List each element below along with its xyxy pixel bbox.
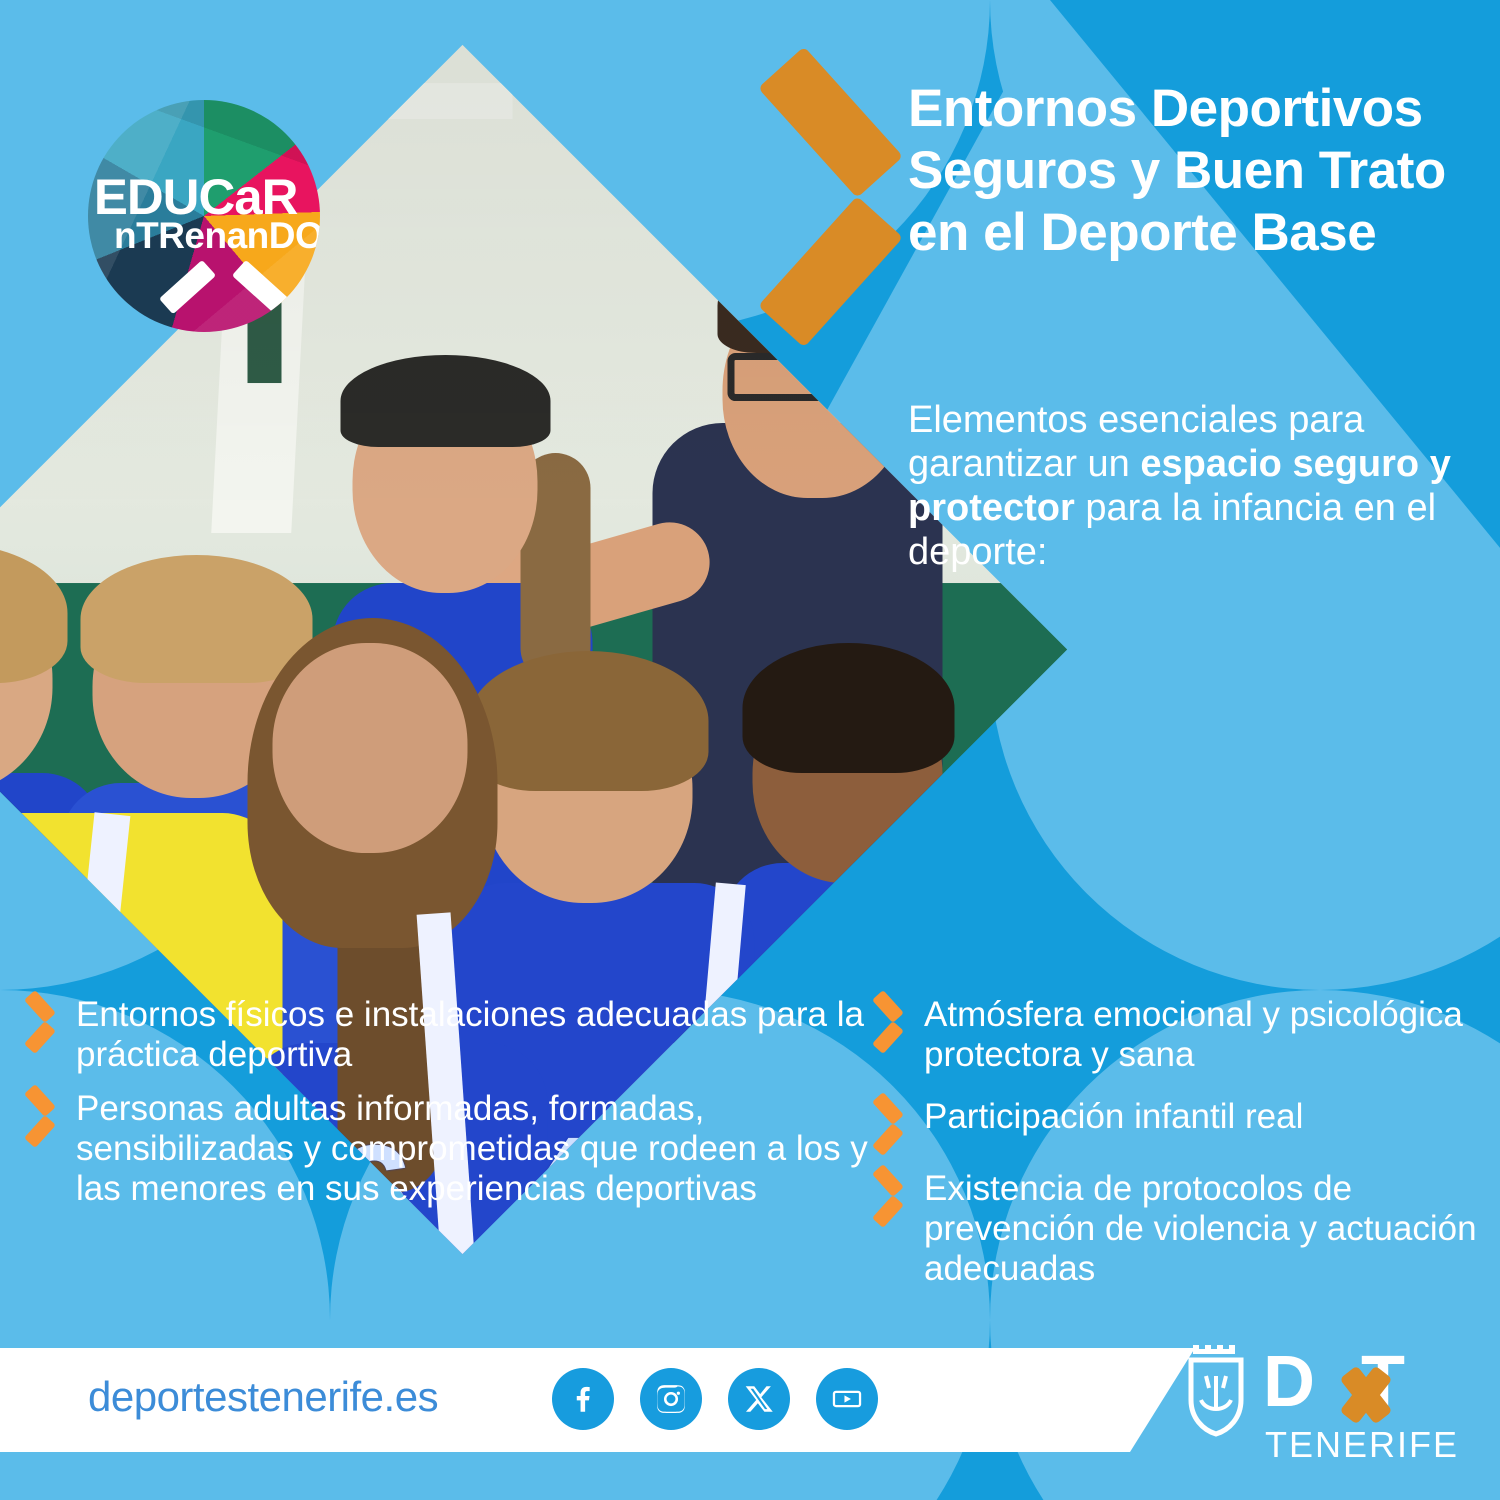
- list-item: Participación infantil real: [868, 1097, 1488, 1147]
- bullet-text: Participación infantil real: [924, 1097, 1303, 1137]
- bullet-text: Personas adultas informadas, formadas, s…: [76, 1089, 870, 1209]
- x-twitter-icon[interactable]: [728, 1368, 790, 1430]
- chevron-right-icon: [758, 88, 898, 306]
- page-title: Entornos Deportivos Seguros y Buen Trato…: [908, 78, 1488, 264]
- logo-word-educar: EDUCaR: [94, 174, 314, 220]
- page-subtitle: Elementos esenciales para garantizar un …: [908, 398, 1488, 574]
- chevron-up-icon: [166, 268, 242, 332]
- list-item: Entornos físicos e instalaciones adecuad…: [20, 995, 870, 1075]
- instagram-icon[interactable]: [640, 1368, 702, 1430]
- bullet-text: Atmósfera emocional y psicológica protec…: [924, 995, 1488, 1075]
- youtube-icon[interactable]: [816, 1368, 878, 1430]
- list-item: Existencia de protocolos de prevención d…: [868, 1169, 1488, 1289]
- facebook-icon[interactable]: [552, 1368, 614, 1430]
- social-links: [552, 1368, 878, 1430]
- list-item: Atmósfera emocional y psicológica protec…: [868, 995, 1488, 1075]
- chevron-right-icon: [868, 1101, 910, 1147]
- bullet-list-right: Atmósfera emocional y psicológica protec…: [868, 995, 1488, 1311]
- bullet-text: Existencia de protocolos de prevención d…: [924, 1169, 1488, 1289]
- tenerife-coat-of-arms-icon: [1185, 1342, 1247, 1438]
- bullet-text: Entornos físicos e instalaciones adecuad…: [76, 995, 870, 1075]
- chevron-right-icon: [868, 1173, 910, 1219]
- dxt-subtitle: TENERIFE: [1265, 1424, 1459, 1466]
- dxt-tenerife-logo: DXT TENERIFE: [1185, 1328, 1485, 1478]
- dxt-x-icon: [1333, 1366, 1405, 1422]
- logo-word-entrenando: nTRenanDO: [114, 218, 320, 254]
- list-item: Personas adultas informadas, formadas, s…: [20, 1089, 870, 1209]
- dxt-letter-d: D: [1263, 1342, 1314, 1422]
- educar-entrenando-logo: EDUCaR nTRenanDO: [88, 100, 320, 332]
- bullet-list-left: Entornos físicos e instalaciones adecuad…: [20, 995, 870, 1223]
- website-link[interactable]: deportestenerife.es: [88, 1373, 438, 1421]
- chevron-right-icon: [868, 999, 910, 1045]
- chevron-right-icon: [20, 999, 62, 1045]
- poster-canvas: 1 4 6 4 EDUCaR nTRenanDO Entornos Deport…: [0, 0, 1500, 1500]
- chevron-right-icon: [20, 1093, 62, 1139]
